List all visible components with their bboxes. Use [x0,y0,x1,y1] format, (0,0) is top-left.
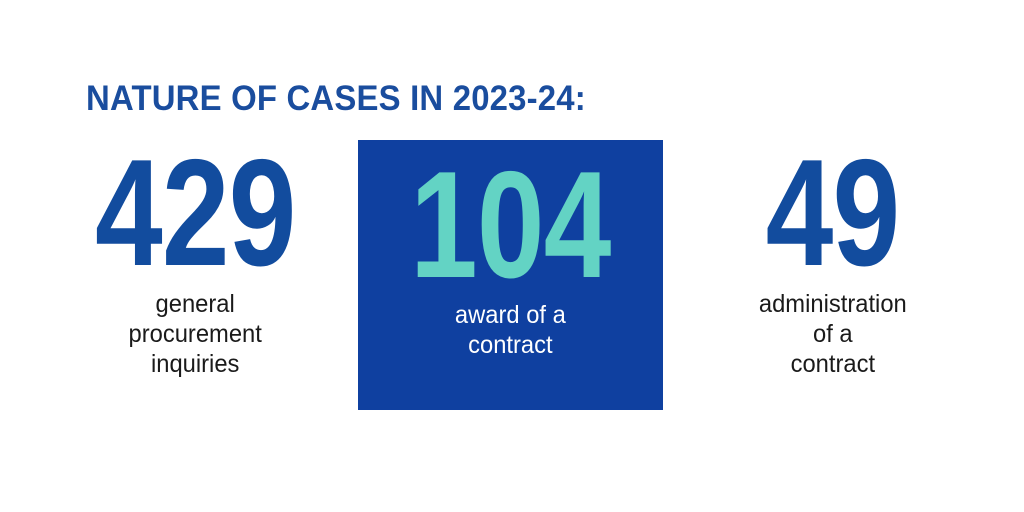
stat-card-general-procurement-inquiries: 429 general procurement inquiries [75,140,315,379]
stat-card-administration-of-a-contract: 49 administration of a contract [713,140,953,379]
stat-value-administration-of-a-contract: 49 [766,152,900,274]
stat-caption-award-of-a-contract: award of a contract [455,300,566,360]
caption-line: contract [759,349,907,379]
caption-line: administration [759,289,907,319]
caption-line: contract [455,330,566,360]
caption-line: of a [759,319,907,349]
infographic-canvas: NATURE OF CASES IN 2023-24: 429 general … [0,0,1024,512]
caption-line: inquiries [128,349,261,379]
stat-caption-administration-of-a-contract: administration of a contract [759,289,907,379]
stat-value-general-procurement-inquiries: 429 [95,152,295,274]
caption-line: procurement [128,319,261,349]
stat-card-award-of-a-contract: 104 award of a contract [358,140,663,410]
caption-line: award of a [455,300,566,330]
page-title: NATURE OF CASES IN 2023-24: [86,80,586,118]
stat-caption-general-procurement-inquiries: general procurement inquiries [128,289,261,379]
statistics-row: 429 general procurement inquiries 104 aw… [0,140,1024,440]
caption-line: general [128,289,261,319]
stat-value-award-of-a-contract: 104 [410,164,610,286]
